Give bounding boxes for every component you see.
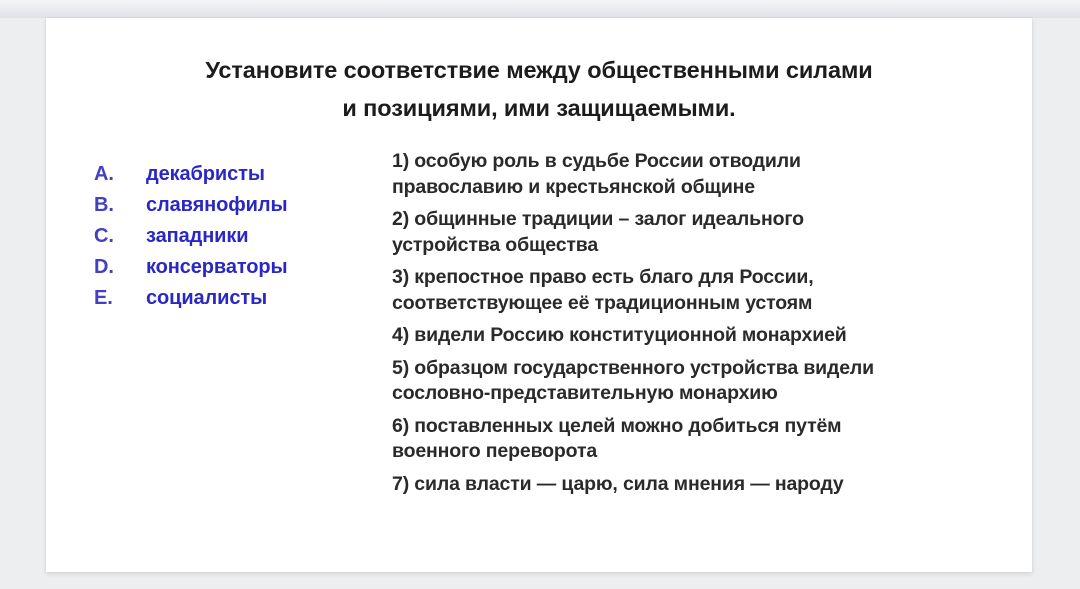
item-label: западники — [146, 225, 248, 248]
document-content: Установите соответствие между общественн… — [46, 18, 1032, 572]
item-label: славянофилы — [146, 194, 287, 217]
statement-line: военного переворота — [392, 439, 992, 465]
page-title-line-1: Установите соответствие между общественн… — [101, 51, 977, 89]
statement-line: православию и крестьянской общине — [392, 175, 992, 201]
statement-line: 5) образцом государственного устройства … — [392, 356, 992, 382]
statement-item: 1) особую роль в судьбе России отводили … — [392, 149, 992, 200]
top-gradient-band — [0, 0, 1080, 18]
statement-line: сословно-представительную монархию — [392, 381, 992, 407]
item-letter: E. — [94, 287, 146, 310]
statement-item: 4) видели Россию конституционной монархи… — [392, 323, 992, 349]
right-column-list: 1) особую роль в судьбе России отводили … — [392, 149, 992, 504]
item-letter: D. — [94, 256, 146, 279]
item-label: консерваторы — [146, 256, 288, 279]
statement-line: 2) общинные традиции – залог идеального — [392, 207, 992, 233]
statement-item: 3) крепостное право есть благо для Росси… — [392, 265, 992, 316]
list-item: D. консерваторы — [94, 256, 384, 287]
statement-item: 5) образцом государственного устройства … — [392, 356, 992, 407]
statement-line: соответствующее её традиционным устоям — [392, 291, 992, 317]
item-letter: A. — [94, 163, 146, 186]
statement-item: 6) поставленных целей можно добиться пут… — [392, 414, 992, 465]
statement-line: 1) особую роль в судьбе России отводили — [392, 149, 992, 175]
statement-line: устройства общества — [392, 233, 992, 259]
list-item: A. декабристы — [94, 163, 384, 194]
statement-line: 3) крепостное право есть благо для Росси… — [392, 265, 992, 291]
page-title: Установите соответствие между общественн… — [101, 51, 977, 127]
page-title-line-2: и позициями, ими защищаемыми. — [101, 89, 977, 127]
statement-line: 4) видели Россию конституционной монархи… — [392, 323, 992, 349]
statement-item: 2) общинные традиции – залог идеального … — [392, 207, 992, 258]
statement-line: 6) поставленных целей можно добиться пут… — [392, 414, 992, 440]
item-label: социалисты — [146, 287, 267, 310]
document-card: Установите соответствие между общественн… — [46, 18, 1032, 572]
list-item: C. западники — [94, 225, 384, 256]
item-letter: C. — [94, 225, 146, 248]
statement-line: 7) сила власти — царю, сила мнения — нар… — [392, 472, 992, 498]
left-column-list: A. декабристы B. славянофилы C. западник… — [94, 163, 384, 318]
item-letter: B. — [94, 194, 146, 217]
list-item: E. социалисты — [94, 287, 384, 318]
list-item: B. славянофилы — [94, 194, 384, 225]
statement-item: 7) сила власти — царю, сила мнения — нар… — [392, 472, 992, 498]
item-label: декабристы — [146, 163, 265, 186]
